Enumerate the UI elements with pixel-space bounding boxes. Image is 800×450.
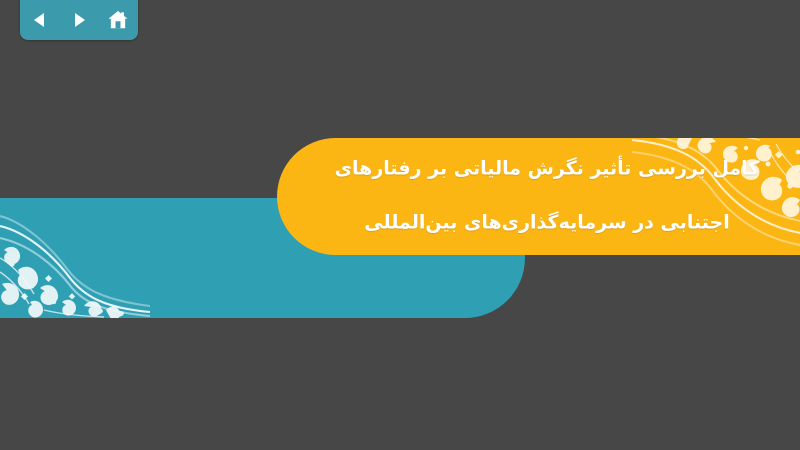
triangle-right-icon [69,10,89,30]
previous-slide-button[interactable] [27,7,53,33]
home-icon [107,9,129,31]
slide-navigation-bar [20,0,138,40]
next-slide-button[interactable] [66,7,92,33]
presentation-slide: کامل بررسی تأثیر نگرش مالیاتی بر رفتارها… [0,0,800,450]
title-line-2: اجتنابی در سرمایه‌گذاری‌های بین‌المللی [317,210,777,237]
slide-title: کامل بررسی تأثیر نگرش مالیاتی بر رفتارها… [317,138,777,255]
title-banner: کامل بررسی تأثیر نگرش مالیاتی بر رفتارها… [277,138,800,255]
title-line-1: کامل بررسی تأثیر نگرش مالیاتی بر رفتارها… [317,156,777,183]
arabesque-corner-ornament [0,198,150,318]
triangle-left-icon [30,10,50,30]
home-button[interactable] [105,7,131,33]
